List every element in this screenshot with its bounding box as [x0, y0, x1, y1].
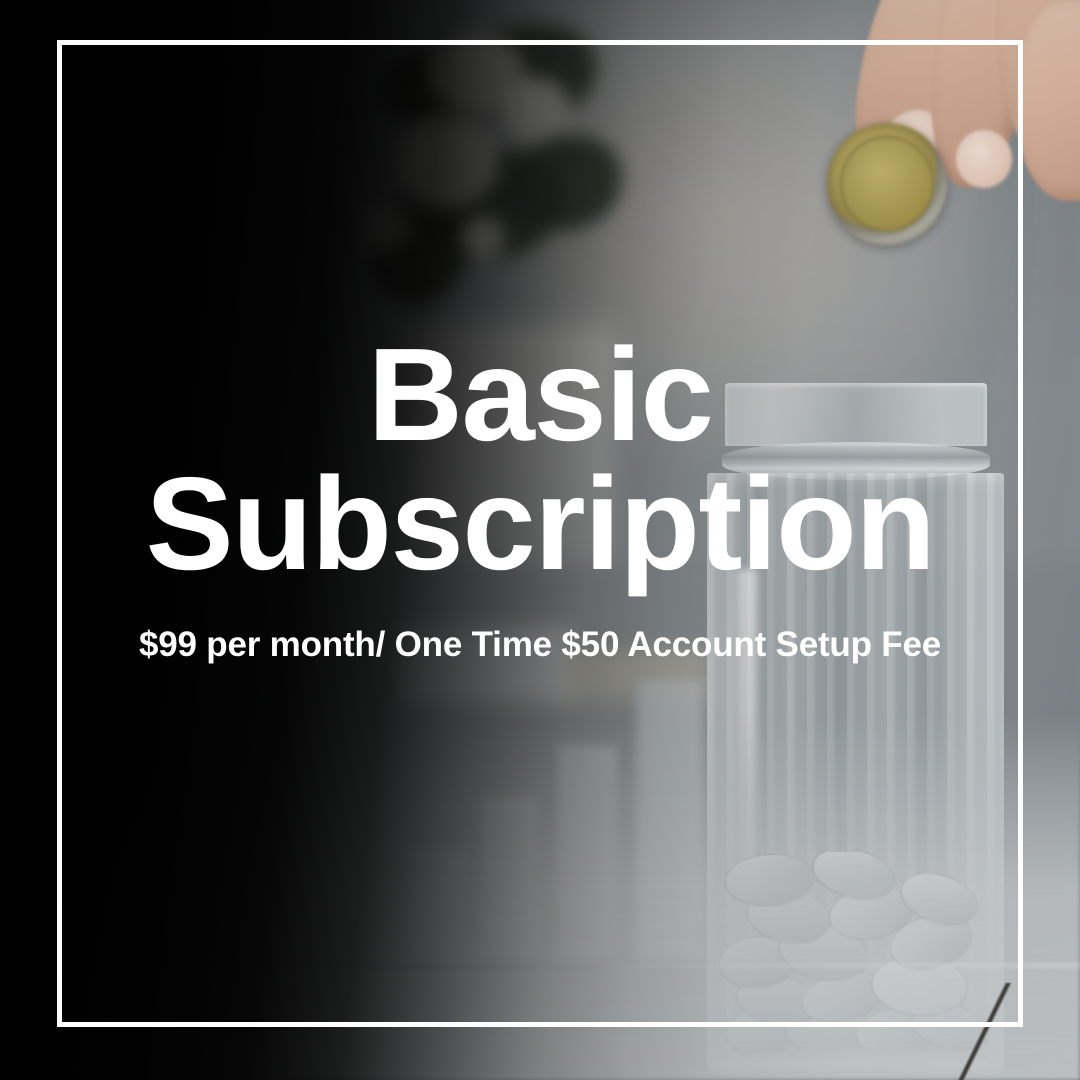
subscription-promo-card: Basic Subscription $99 per month/ One Ti…: [0, 0, 1080, 1080]
page-title: Basic Subscription: [70, 330, 1010, 589]
title-line-2: Subscription: [70, 459, 1010, 588]
pricing-subtitle: $99 per month/ One Time $50 Account Setu…: [70, 589, 1010, 665]
text-content-block: Basic Subscription $99 per month/ One Ti…: [0, 330, 1080, 665]
title-line-1: Basic: [70, 330, 1010, 459]
